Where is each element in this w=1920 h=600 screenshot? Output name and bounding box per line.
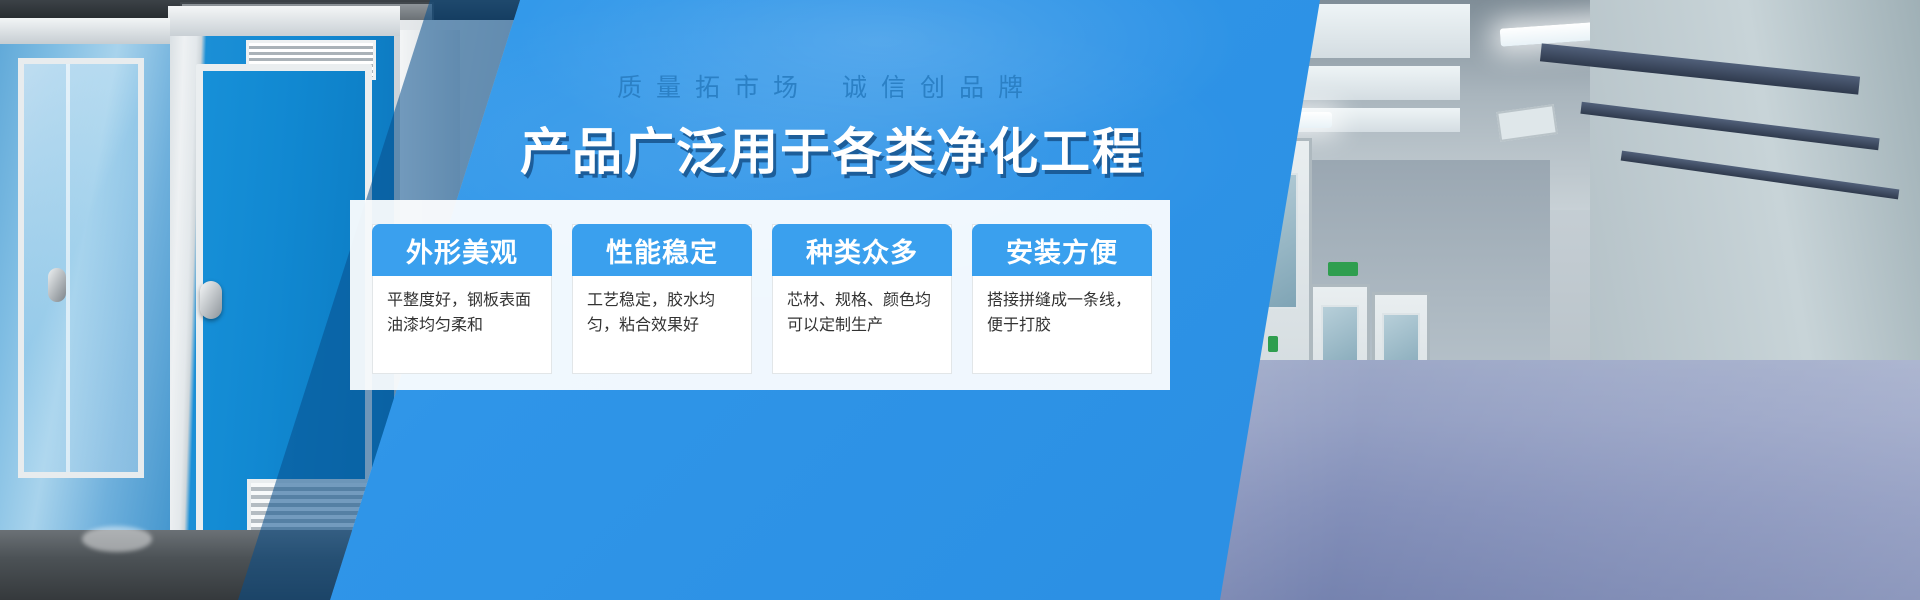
feature-card-title: 安装方便 xyxy=(1006,231,1118,270)
feature-card-body: 搭接拼缝成一条线，便于打胶 xyxy=(973,276,1151,373)
tagline: 质量拓市场诚信创品牌 xyxy=(520,68,1120,104)
feature-card-header: 安装方便 xyxy=(972,224,1152,276)
feature-card[interactable]: 种类众多 芯材、规格、颜色均可以定制生产 xyxy=(772,224,952,374)
feature-card-header: 性能稳定 xyxy=(572,224,752,276)
wall-marker xyxy=(1268,336,1278,352)
glass-cabin-handle xyxy=(48,268,66,302)
cabin-door-handle xyxy=(200,281,222,319)
cabin-roof xyxy=(168,6,400,36)
glass-cabin-unit xyxy=(0,18,170,600)
page-title: 产品广泛用于各类净化工程 xyxy=(520,112,1120,184)
floor-puddle xyxy=(82,526,152,552)
feature-card-header: 外形美观 xyxy=(372,224,552,276)
feature-card-title: 性能稳定 xyxy=(606,231,718,270)
feature-card-body: 工艺稳定，胶水均匀，粘合效果好 xyxy=(573,276,751,373)
feature-card[interactable]: 安装方便 搭接拼缝成一条线，便于打胶 xyxy=(972,224,1152,374)
feature-card-body: 平整度好，钢板表面油漆均匀柔和 xyxy=(373,276,551,373)
headline-block: 质量拓市场诚信创品牌 产品广泛用于各类净化工程 xyxy=(520,68,1120,184)
feature-card-header: 种类众多 xyxy=(772,224,952,276)
feature-card-title: 种类众多 xyxy=(806,231,918,270)
feature-cards-panel: 外形美观 平整度好，钢板表面油漆均匀柔和 性能稳定 工艺稳定，胶水均匀，粘合效果… xyxy=(350,200,1170,390)
exit-sign xyxy=(1328,262,1358,276)
feature-card-title: 外形美观 xyxy=(406,231,518,270)
feature-cards-row: 外形美观 平整度好，钢板表面油漆均匀柔和 性能稳定 工艺稳定，胶水均匀，粘合效果… xyxy=(372,224,1152,374)
feature-card-body: 芯材、规格、颜色均可以定制生产 xyxy=(773,276,951,373)
feature-card[interactable]: 外形美观 平整度好，钢板表面油漆均匀柔和 xyxy=(372,224,552,374)
glass-cabin-top-frame xyxy=(0,18,170,44)
feature-card[interactable]: 性能稳定 工艺稳定，胶水均匀，粘合效果好 xyxy=(572,224,752,374)
tagline-left: 质量拓市场 xyxy=(617,74,812,102)
glass-cabin-panel xyxy=(18,58,144,478)
tagline-right: 诚信创品牌 xyxy=(842,74,1037,102)
promo-banner: 质量拓市场诚信创品牌 产品广泛用于各类净化工程 外形美观 平整度好，钢板表面油漆… xyxy=(0,0,1920,600)
